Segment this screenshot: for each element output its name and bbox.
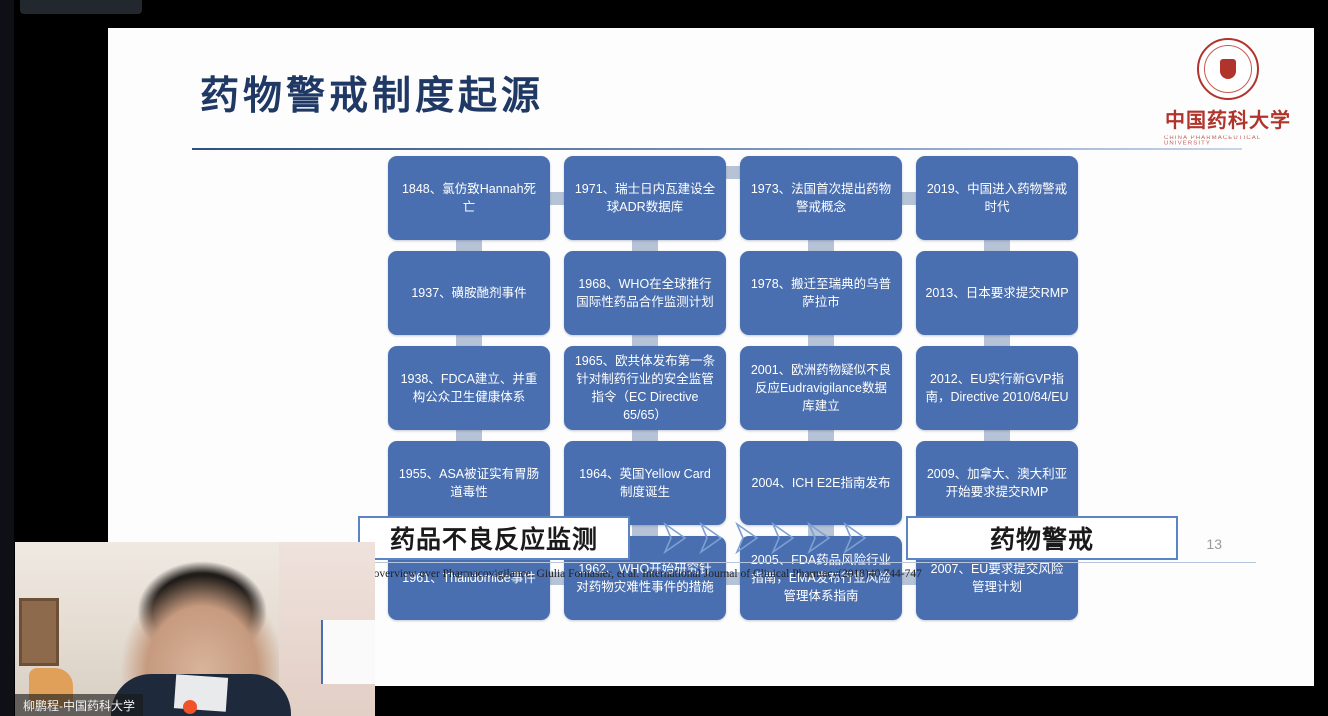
webcam-person-collar [174,674,228,712]
timeline-node[interactable]: 2004、ICH E2E指南发布 [740,441,902,525]
chevron-right-icon [841,521,875,555]
timeline-node[interactable]: 2009、加拿大、澳大利亚开始要求提交RMP [916,441,1078,525]
timeline-node[interactable]: 1964、英国Yellow Card制度诞生 [564,441,726,525]
timeline-node[interactable]: 1955、ASA被证实有胃肠道毒性 [388,441,550,525]
chevron-right-icon [769,521,803,555]
webcam-tile[interactable]: 柳鹏程-中国药科大学 [15,542,375,716]
university-seal-icon [1197,38,1259,100]
logo-chinese-name: 中国药科大学 [1165,104,1291,133]
title-divider [192,148,1242,150]
logo-english-name: CHINA PHARMACEUTICAL UNIVERSITY [1164,136,1292,147]
timeline-node[interactable]: 1978、搬迁至瑞典的乌普萨拉市 [740,251,902,335]
connector-col1-col2-top [726,166,740,179]
chevron-right-icon [661,521,695,555]
left-edge-bar [0,0,14,716]
banner-right-label: 药物警戒 [906,516,1178,560]
participant-name-label: 柳鹏程-中国药科大学 [15,694,143,716]
timeline-node[interactable]: 2001、欧洲药物疑似不良反应Eudravigilance数据库建立 [740,346,902,430]
citation-divider [336,562,1256,563]
timeline-node[interactable]: 1938、FDCA建立、并重构公众卫生健康体系 [388,346,550,430]
citation-text: ...orical overview over Pharmacovigilanc… [336,568,922,580]
meeting-toolbar[interactable] [20,0,142,14]
page-number: 13 [1206,536,1222,552]
connector-col2-col3 [902,192,916,205]
timeline-node[interactable]: 1965、欧共体发布第一条针对制药行业的安全监管指令（EC Directive … [564,346,726,430]
timeline-node[interactable]: 2012、EU实行新GVP指南，Directive 2010/84/EU [916,346,1078,430]
timeline-node[interactable]: 2013、日本要求提交RMP [916,251,1078,335]
bottom-transition-banner: 药品不良反应监测 药物警戒 [358,516,1178,560]
webcam-background-frame [19,598,59,666]
banner-left-label: 药品不良反应监测 [358,516,630,560]
seal-core-icon [1220,59,1236,79]
timeline-node[interactable]: 1968、WHO在全球推行国际性药品合作监测计划 [564,251,726,335]
chevron-right-icon [697,521,731,555]
meeting-screen: 药物警戒制度起源 中国药科大学 CHINA PHARMACEUTICAL UNI… [0,0,1328,716]
timeline-node[interactable]: 2019、中国进入药物警戒时代 [916,156,1078,240]
timeline-node[interactable]: 1848、氯仿致Hannah死亡 [388,156,550,240]
page-title: 药物警戒制度起源 [200,65,544,121]
connector-col0-col1 [550,192,564,205]
chevron-right-icon [733,521,767,555]
university-logo: 中国药科大学 CHINA PHARMACEUTICAL UNIVERSITY [1164,38,1292,150]
chevron-arrow-group [630,516,906,560]
timeline-node[interactable]: 1937、磺胺酏剂事件 [388,251,550,335]
timeline-node[interactable]: 1973、法国首次提出药物警戒概念 [740,156,902,240]
chevron-right-icon [805,521,839,555]
webcam-background-screen [321,620,375,684]
timeline-node[interactable]: 1971、瑞士日内瓦建设全球ADR数据库 [564,156,726,240]
recording-indicator-icon [183,700,197,714]
